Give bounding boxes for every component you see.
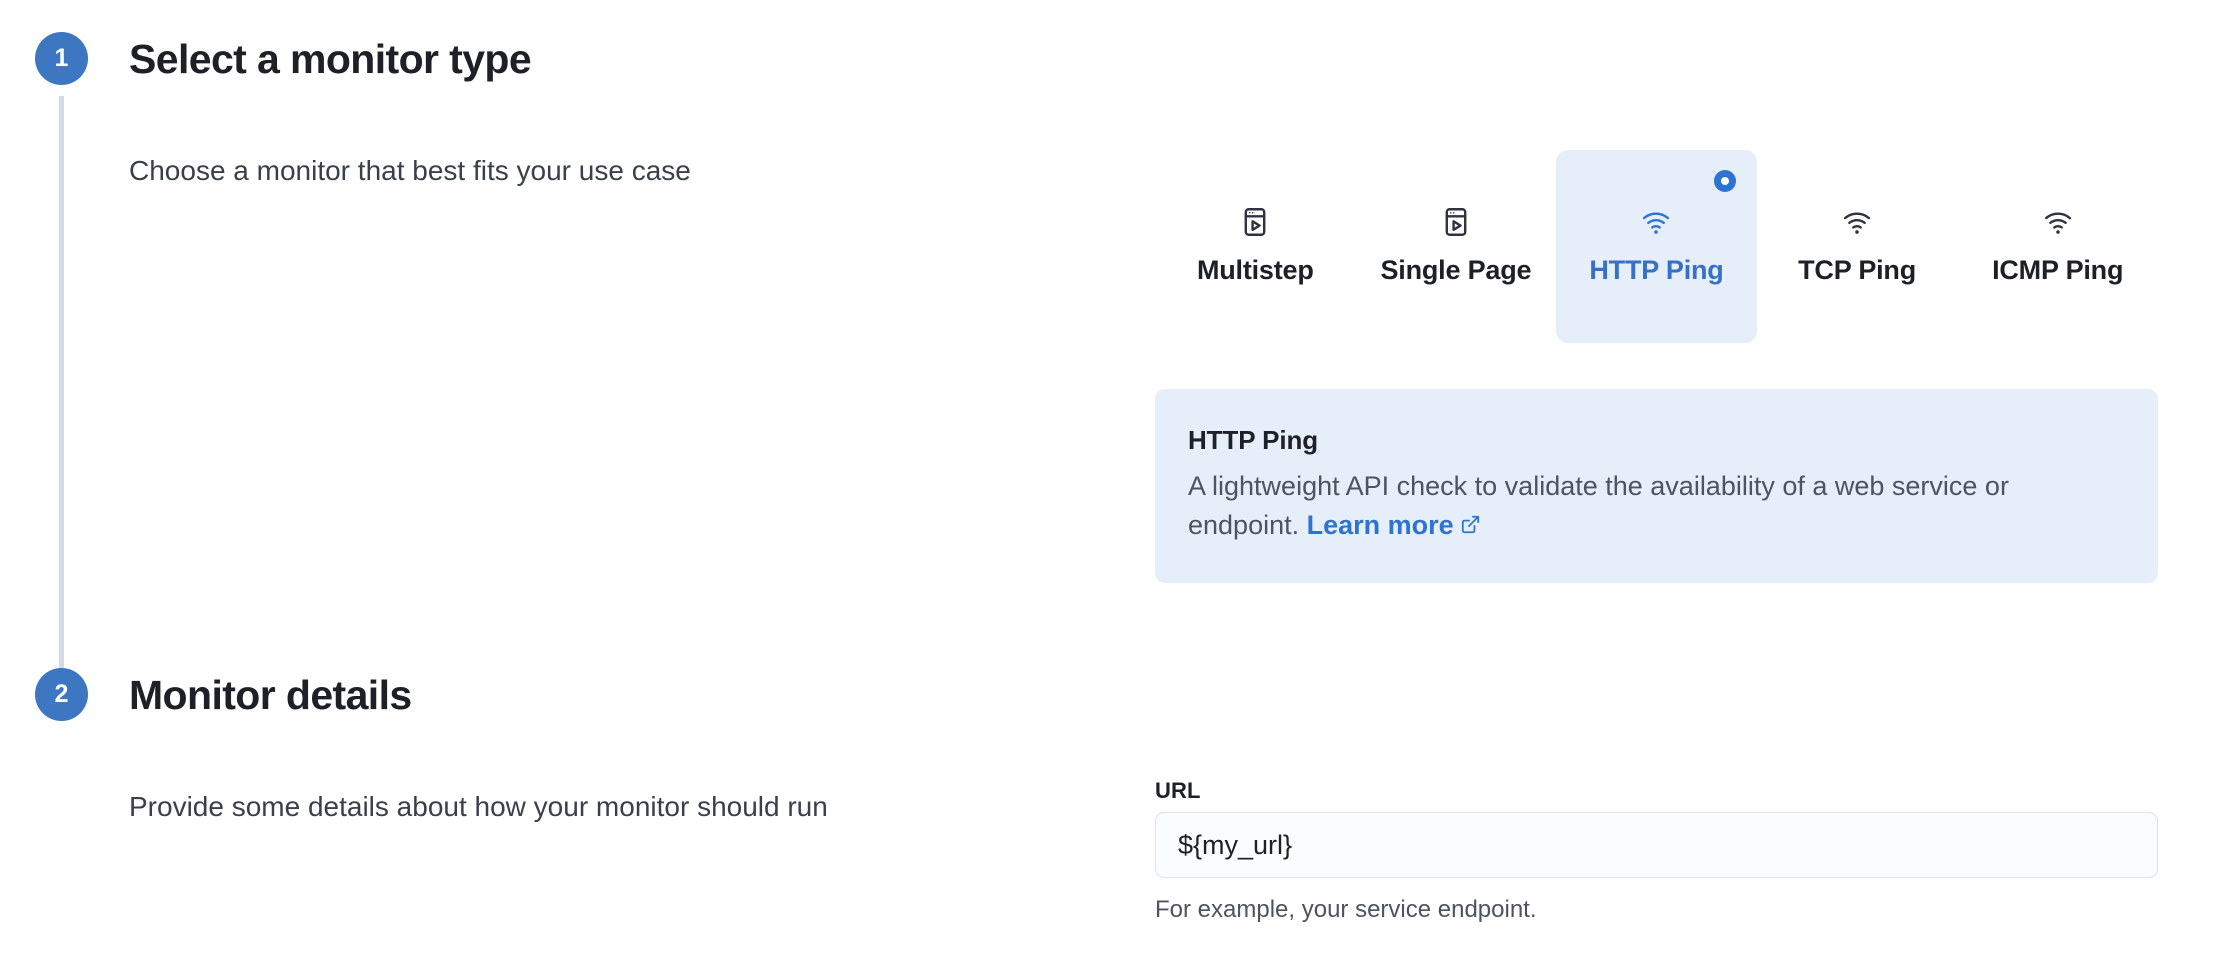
monitor-type-label: Single Page bbox=[1380, 255, 1531, 286]
step-2-subtitle: Provide some details about how your moni… bbox=[129, 791, 828, 823]
monitor-type-card-icmp-ping[interactable]: ICMP Ping bbox=[1957, 150, 2158, 343]
monitor-type-selector: Multistep Single Page bbox=[1155, 150, 2158, 343]
learn-more-label: Learn more bbox=[1307, 510, 1454, 540]
browser-play-icon bbox=[1238, 204, 1272, 240]
monitor-type-card-http-ping[interactable]: HTTP Ping bbox=[1556, 150, 1757, 343]
create-monitor-wizard: 1 Select a monitor type Choose a monitor… bbox=[0, 0, 2218, 958]
browser-play-icon bbox=[1439, 204, 1473, 240]
monitor-type-card-tcp-ping[interactable]: TCP Ping bbox=[1757, 150, 1958, 343]
step-2-title: Monitor details bbox=[129, 672, 412, 719]
radio-selected-icon[interactable] bbox=[1714, 170, 1736, 192]
wifi-ping-icon bbox=[1639, 204, 1673, 240]
monitor-type-label: ICMP Ping bbox=[1992, 255, 2123, 286]
step-badge-2: 2 bbox=[35, 668, 88, 721]
monitor-type-label: HTTP Ping bbox=[1589, 255, 1723, 286]
monitor-type-card-single-page[interactable]: Single Page bbox=[1356, 150, 1557, 343]
info-panel-body: A lightweight API check to validate the … bbox=[1188, 467, 2124, 547]
monitor-type-info-panel: HTTP Ping A lightweight API check to val… bbox=[1155, 389, 2158, 583]
step-number: 1 bbox=[55, 46, 69, 71]
info-panel-title: HTTP Ping bbox=[1188, 425, 2124, 456]
stepper-connector-line bbox=[59, 96, 64, 672]
url-input[interactable] bbox=[1155, 812, 2158, 878]
monitor-type-card-multistep[interactable]: Multistep bbox=[1155, 150, 1356, 343]
wifi-ping-icon bbox=[2041, 204, 2075, 240]
learn-more-link[interactable]: Learn more bbox=[1307, 510, 1481, 540]
step-number: 2 bbox=[55, 682, 69, 707]
step-1-title: Select a monitor type bbox=[129, 36, 531, 83]
wifi-ping-icon bbox=[1840, 204, 1874, 240]
step-1-subtitle: Choose a monitor that best fits your use… bbox=[129, 155, 691, 187]
url-field-label: URL bbox=[1155, 778, 1201, 804]
url-field-help: For example, your service endpoint. bbox=[1155, 896, 1537, 924]
monitor-type-label: TCP Ping bbox=[1798, 255, 1916, 286]
step-badge-1: 1 bbox=[35, 32, 88, 85]
monitor-type-label: Multistep bbox=[1197, 255, 1314, 286]
external-link-icon bbox=[1460, 507, 1481, 546]
